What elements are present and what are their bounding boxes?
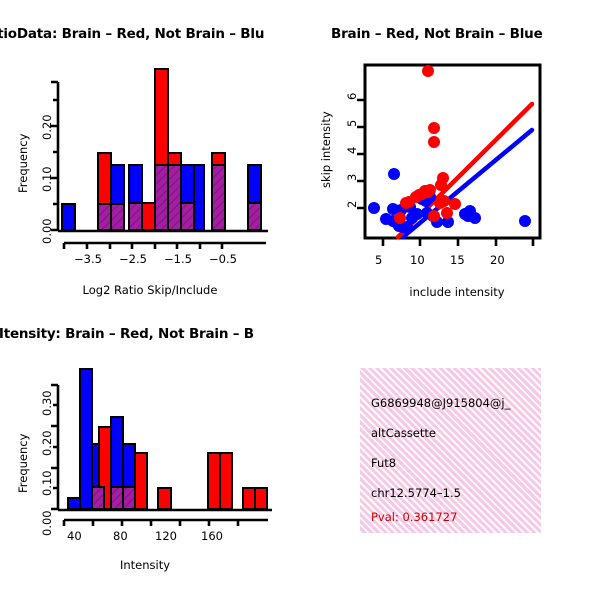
ratio-histogram-plot — [0, 0, 300, 300]
panel-intensity-histogram: ne Itensity: Brain – Red, Not Brain – B … — [0, 300, 300, 600]
panel-ratio-histogram: RatioData: Brain – Red, Not Brain – Blu … — [0, 0, 300, 300]
intensity-histogram-plot — [0, 300, 300, 600]
info-box — [360, 368, 541, 533]
info-line-locus: chr12.5774–1.5 — [371, 486, 461, 500]
info-line-id: G6869948@J915804@j_ — [371, 396, 510, 410]
panel-info: G6869948@J915804@j_ altCassette Fut8 chr… — [300, 300, 600, 600]
scatter-plot — [300, 0, 600, 300]
panel-scatter: Brain – Red, Not Brain – Blue skip inten… — [300, 0, 600, 300]
info-line-gene: Fut8 — [371, 456, 396, 470]
info-line-event-type: altCassette — [371, 426, 436, 440]
info-line-pval: Pval: 0.361727 — [371, 510, 457, 524]
